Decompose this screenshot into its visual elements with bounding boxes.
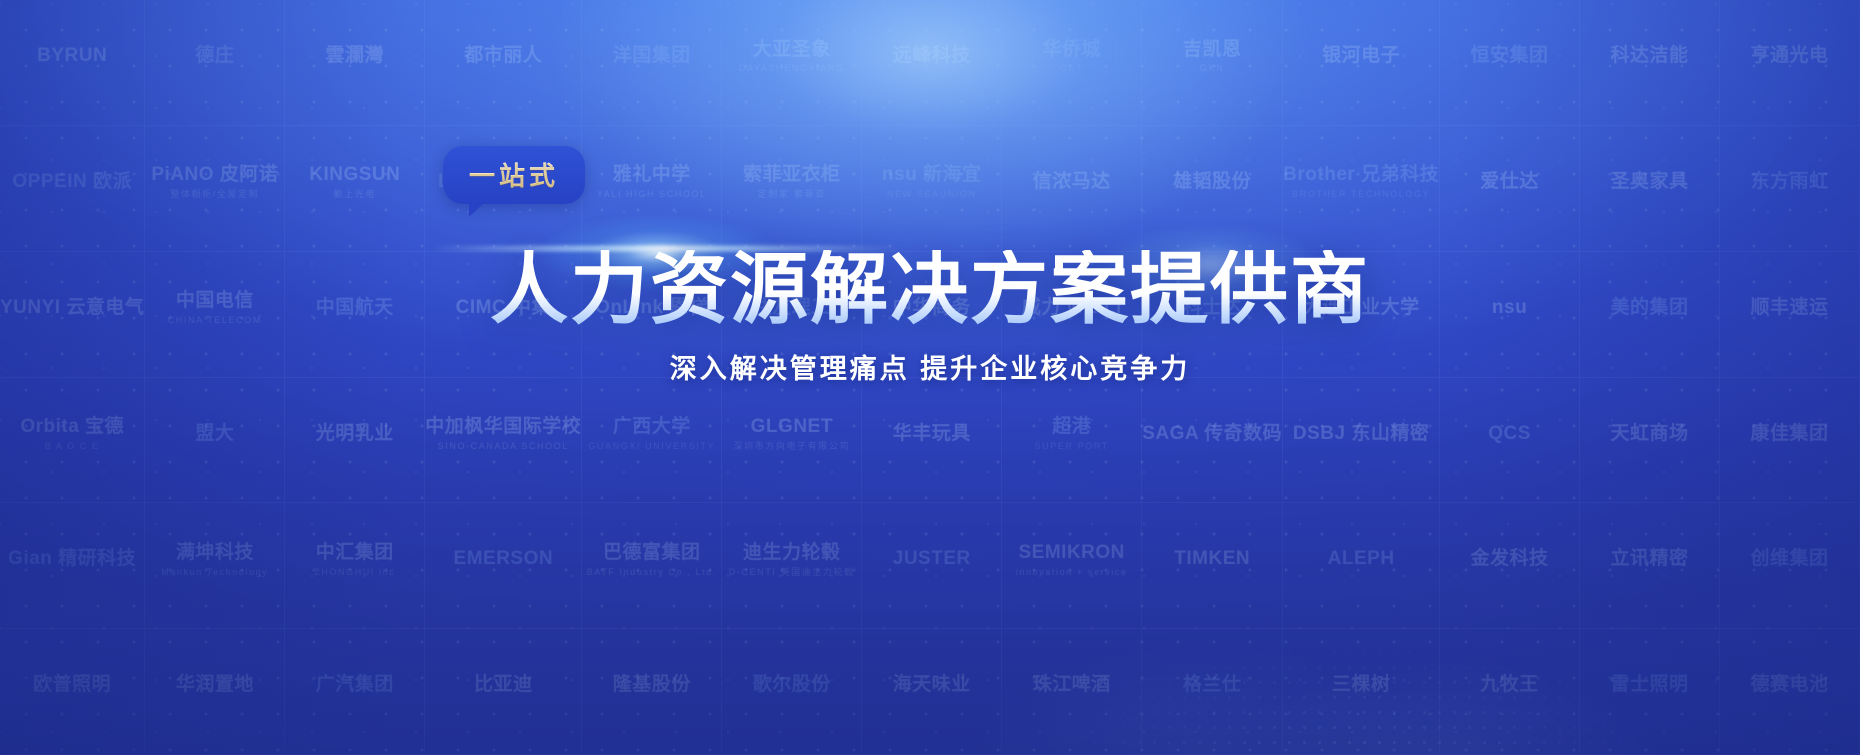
page-subtitle: 深入解决管理痛点 提升企业核心竞争力 — [0, 347, 1860, 386]
hero-banner: BYRUN德庄雲瀾灣都市丽人洋国集团大亚圣象DAYASHENGXIANG远峰科技… — [0, 0, 1860, 755]
badge-label: 一站式 — [469, 161, 559, 191]
badge-bubble: 一站式 — [443, 146, 585, 204]
page-title: 人力资源解决方案提供商 — [0, 250, 1860, 328]
one-stop-badge: 一站式 — [443, 146, 585, 204]
speech-bubble-tail-icon — [469, 201, 486, 217]
hero-content: 一站式 人力资源解决方案提供商 深入解决管理痛点 提升企业核心竞争力 — [0, 0, 1860, 400]
